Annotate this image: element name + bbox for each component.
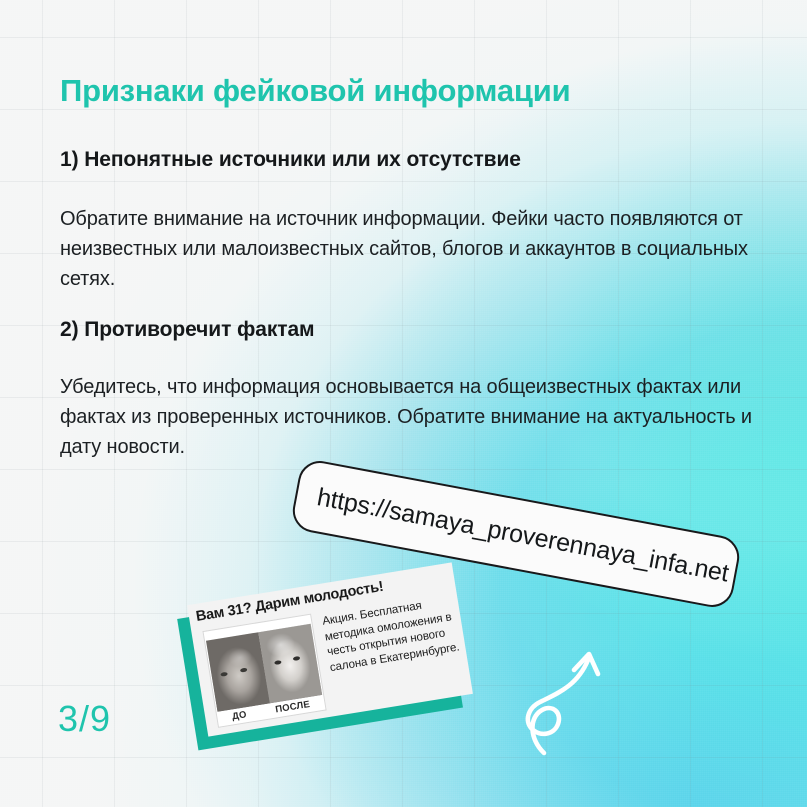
curly-arrow-up-right-icon <box>522 634 652 764</box>
ad-label-before: ДО <box>231 709 247 722</box>
section-body-2: Убедитесь, что информация основывается н… <box>60 372 760 462</box>
section-body-1: Обратите внимание на источник информации… <box>60 204 760 294</box>
slide-canvas: Признаки фейковой информации 1) Непонятн… <box>0 0 807 807</box>
ad-before-after-photo: ДО ПОСЛЕ <box>202 614 326 728</box>
ad-body-text: Акция. Бесплатная методика омоложения в … <box>321 593 461 676</box>
ad-face-after <box>258 624 322 704</box>
section-heading-1: 1) Непонятные источники или их отсутстви… <box>60 148 521 172</box>
section-heading-2: 2) Противоречит фактам <box>60 318 314 342</box>
page-indicator: 3/9 <box>58 698 111 740</box>
page-title: Признаки фейковой информации <box>60 73 570 109</box>
